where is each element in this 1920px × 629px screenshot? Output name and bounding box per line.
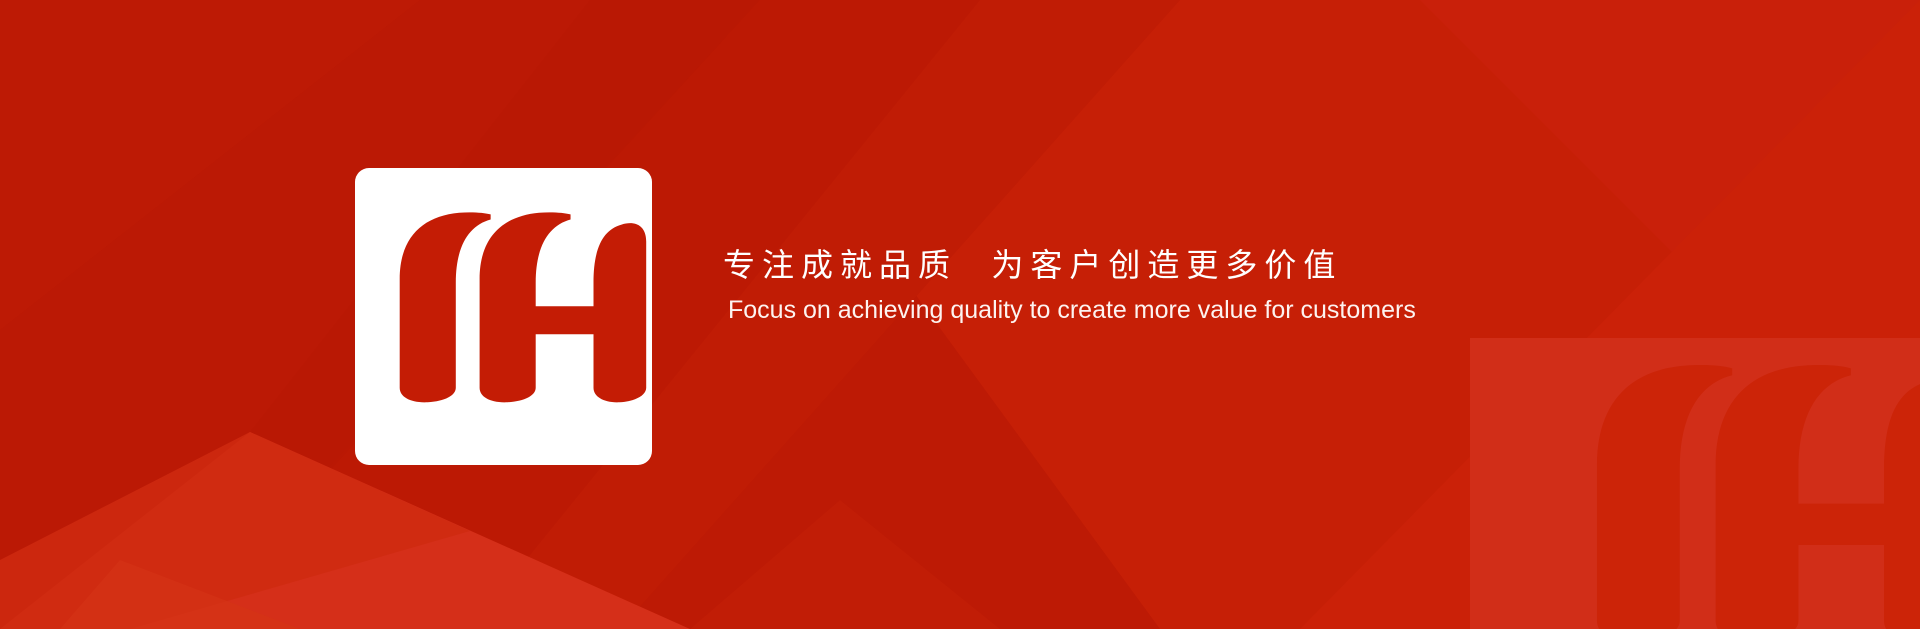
tagline-block: 专注成就品质 为客户创造更多价值 Focus on achieving qual… — [723, 243, 1603, 327]
tagline-chinese: 专注成就品质 为客户创造更多价值 — [723, 243, 1603, 287]
company-logo-icon[interactable] — [355, 168, 652, 465]
banner-content: 专注成就品质 为客户创造更多价值 Focus on achieving qual… — [0, 0, 1920, 629]
hero-banner: 专注成就品质 为客户创造更多价值 Focus on achieving qual… — [0, 0, 1920, 629]
tagline-english: Focus on achieving quality to create mor… — [723, 293, 1508, 327]
